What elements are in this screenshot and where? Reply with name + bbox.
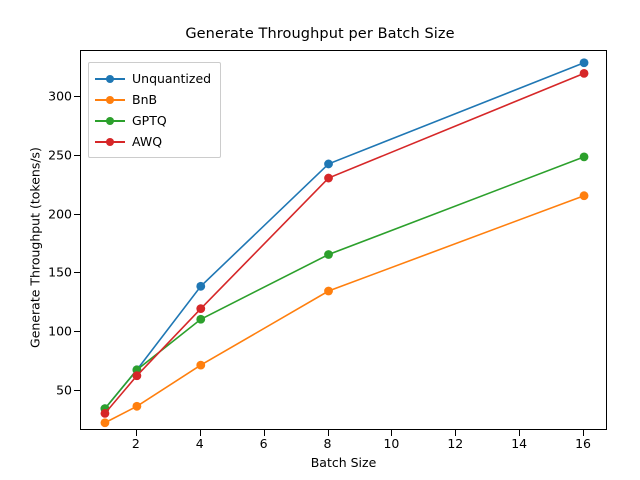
data-point-marker — [324, 174, 333, 183]
y-tick-mark — [74, 331, 80, 332]
data-point-marker — [196, 304, 205, 313]
legend-label: BnB — [132, 92, 157, 107]
x-axis-label: Batch Size — [80, 455, 607, 470]
y-tick-label: 300 — [32, 88, 72, 103]
x-axis-tick-labels: 246810121416 — [80, 436, 607, 456]
y-tick-mark — [74, 390, 80, 391]
chart-legend: UnquantizedBnBGPTQAWQ — [88, 62, 221, 158]
data-point-marker — [580, 152, 589, 161]
x-tick-label: 4 — [180, 436, 220, 451]
x-tick-mark — [136, 430, 137, 436]
y-tick-mark — [74, 96, 80, 97]
x-tick-label: 16 — [563, 436, 603, 451]
y-tick-label: 200 — [32, 206, 72, 221]
x-tick-label: 2 — [116, 436, 156, 451]
data-point-marker — [132, 371, 141, 380]
series-line — [105, 157, 584, 409]
data-point-marker — [101, 409, 110, 418]
legend-marker-icon — [95, 115, 125, 127]
legend-item-awq[interactable]: AWQ — [95, 131, 211, 152]
y-tick-label: 250 — [32, 147, 72, 162]
y-tick-label: 100 — [32, 324, 72, 339]
x-tick-mark — [200, 430, 201, 436]
x-tick-label: 14 — [499, 436, 539, 451]
data-point-marker — [101, 418, 110, 427]
chart-figure: Generate Throughput per Batch Size Gener… — [0, 0, 640, 480]
y-tick-mark — [74, 272, 80, 273]
x-tick-mark — [583, 430, 584, 436]
series-gptq — [101, 152, 589, 413]
legend-marker-icon — [95, 94, 125, 106]
x-tick-label: 8 — [308, 436, 348, 451]
x-tick-mark — [455, 430, 456, 436]
data-point-marker — [196, 315, 205, 324]
data-point-marker — [196, 282, 205, 291]
legend-item-bnb[interactable]: BnB — [95, 89, 211, 110]
legend-label: AWQ — [132, 134, 162, 149]
y-axis-tick-labels: 50100150200250300 — [28, 0, 72, 480]
legend-label: GPTQ — [132, 113, 167, 128]
data-point-marker — [324, 250, 333, 259]
y-tick-label: 50 — [32, 383, 72, 398]
x-tick-label: 6 — [244, 436, 284, 451]
y-tick-mark — [74, 214, 80, 215]
data-point-marker — [324, 287, 333, 296]
series-bnb — [101, 191, 589, 427]
y-tick-label: 150 — [32, 265, 72, 280]
data-point-marker — [580, 58, 589, 67]
x-tick-mark — [519, 430, 520, 436]
data-point-marker — [324, 160, 333, 169]
data-point-marker — [196, 361, 205, 370]
x-tick-mark — [328, 430, 329, 436]
legend-label: Unquantized — [132, 71, 211, 86]
x-tick-mark — [391, 430, 392, 436]
series-line — [105, 196, 584, 423]
chart-title: Generate Throughput per Batch Size — [0, 26, 640, 42]
data-point-marker — [132, 402, 141, 411]
legend-marker-icon — [95, 136, 125, 148]
legend-marker-icon — [95, 73, 125, 85]
legend-item-unquantized[interactable]: Unquantized — [95, 68, 211, 89]
x-tick-label: 12 — [435, 436, 475, 451]
data-point-marker — [580, 69, 589, 78]
y-tick-mark — [74, 155, 80, 156]
x-tick-label: 10 — [371, 436, 411, 451]
legend-item-gptq[interactable]: GPTQ — [95, 110, 211, 131]
x-tick-mark — [264, 430, 265, 436]
data-point-marker — [580, 191, 589, 200]
